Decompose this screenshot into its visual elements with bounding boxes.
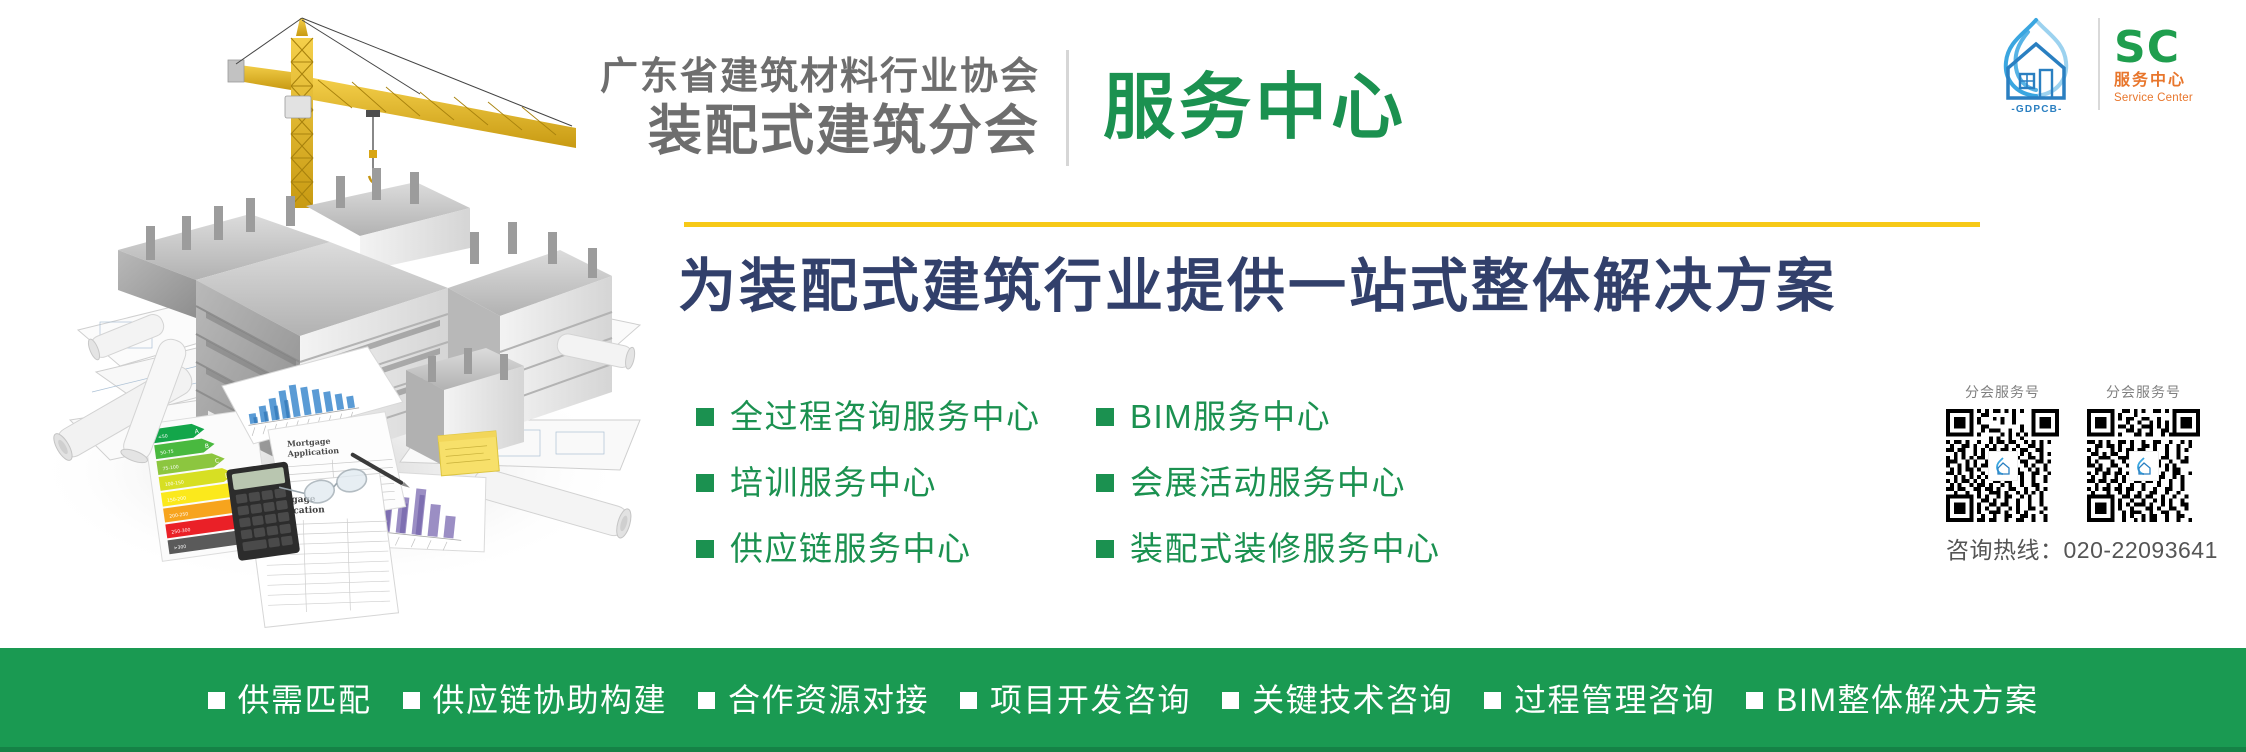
bottom-bar-item-label: BIM整体解决方案 xyxy=(1776,681,2038,719)
bottom-bar-items: 供需匹配 供应链协助构建 合作资源对接 项目开发咨询 关键技术咨询 过程管理咨询 xyxy=(208,681,2039,719)
square-bullet-icon xyxy=(696,540,714,558)
square-bullet-icon xyxy=(1096,474,1114,492)
qr-caption: 分会服务号 xyxy=(2087,382,2200,402)
square-bullet-icon xyxy=(1096,408,1114,426)
service-column-2: BIM服务中心 会展活动服务中心 装配式装修服务中心 xyxy=(1096,398,1576,568)
square-bullet-icon xyxy=(403,692,420,709)
square-bullet-icon xyxy=(696,408,714,426)
qr-code-image[interactable] xyxy=(2087,409,2200,522)
service-center-list: 全过程咨询服务中心 培训服务中心 供应链服务中心 BIM服务中心 xyxy=(696,398,1876,568)
square-bullet-icon xyxy=(696,474,714,492)
service-item-label: 装配式装修服务中心 xyxy=(1130,530,1441,568)
service-item-label: 供应链服务中心 xyxy=(730,530,972,568)
square-bullet-icon xyxy=(698,692,715,709)
sc-english-label: Service Center xyxy=(2114,91,2236,105)
gold-divider-rule xyxy=(684,222,1980,227)
square-bullet-icon xyxy=(960,692,977,709)
brand-logo-lockup: -GDPCB- SC 服务中心 Service Center xyxy=(1986,14,2236,114)
service-item-label: 全过程咨询服务中心 xyxy=(730,398,1041,436)
qr-center-logo-icon xyxy=(1988,451,2018,481)
service-center-title: 服务中心 xyxy=(1069,65,1407,151)
association-name-line1: 广东省建筑材料行业协会 xyxy=(600,54,1040,100)
qr-code-row: 分会服务号 xyxy=(1946,382,2226,522)
bottom-bar-item[interactable]: 过程管理咨询 xyxy=(1484,681,1715,719)
service-item[interactable]: 供应链服务中心 xyxy=(696,530,1096,568)
headline-slogan: 为装配式建筑行业提供一站式整体解决方案 xyxy=(678,252,1998,322)
bottom-bar-item[interactable]: 关键技术咨询 xyxy=(1222,681,1453,719)
bottom-bar-item[interactable]: 合作资源对接 xyxy=(698,681,929,719)
service-item[interactable]: 培训服务中心 xyxy=(696,464,1096,502)
bottom-bar-item-label: 关键技术咨询 xyxy=(1252,681,1453,719)
bottom-bar-item-label: 供应链协助构建 xyxy=(433,681,668,719)
service-item-label: 培训服务中心 xyxy=(730,464,937,502)
sc-logo-text: SC 服务中心 Service Center xyxy=(2114,24,2236,105)
construction-site-render: ABC DEF GH <5050-7575-100 100-150150-200… xyxy=(0,0,660,640)
qr-contact-block: 分会服务号 xyxy=(1946,382,2226,564)
qr-center-logo-icon xyxy=(2129,451,2159,481)
bottom-bar-item[interactable]: 供需匹配 xyxy=(208,681,372,719)
service-item[interactable]: 会展活动服务中心 xyxy=(1096,464,1576,502)
square-bullet-icon xyxy=(208,692,225,709)
square-bullet-icon xyxy=(1484,692,1501,709)
content-area: -GDPCB- SC 服务中心 Service Center 广东省建筑材料行业… xyxy=(660,0,2246,648)
bottom-service-bar: 供需匹配 供应链协助构建 合作资源对接 项目开发咨询 关键技术咨询 过程管理咨询 xyxy=(0,648,2246,752)
service-item[interactable]: 全过程咨询服务中心 xyxy=(696,398,1096,436)
logo-divider xyxy=(2098,18,2100,110)
gdpcb-caption: -GDPCB- xyxy=(1986,104,2088,115)
square-bullet-icon xyxy=(1096,540,1114,558)
square-bullet-icon xyxy=(1746,692,1763,709)
calculator xyxy=(226,461,300,561)
service-column-1: 全过程咨询服务中心 培训服务中心 供应链服务中心 xyxy=(696,398,1096,568)
service-item[interactable]: 装配式装修服务中心 xyxy=(1096,530,1576,568)
bottom-bar-item-label: 供需匹配 xyxy=(238,681,372,719)
service-item-label: 会展活动服务中心 xyxy=(1130,464,1406,502)
qr-code-cell[interactable]: 分会服务号 xyxy=(1946,382,2059,522)
banner-root: ABC DEF GH <5050-7575-100 100-150150-200… xyxy=(0,0,2246,752)
sc-abbrev: SC xyxy=(2114,28,2236,68)
bottom-bar-item[interactable]: 供应链协助构建 xyxy=(403,681,668,719)
hotline-text: 咨询热线：020-22093641 xyxy=(1946,536,2226,564)
service-item[interactable]: BIM服务中心 xyxy=(1096,398,1576,436)
association-name-line2: 装配式建筑分会 xyxy=(600,100,1040,162)
title-block: 广东省建筑材料行业协会 装配式建筑分会 服务中心 xyxy=(600,40,1900,175)
bottom-bar-item[interactable]: BIM整体解决方案 xyxy=(1746,681,2038,719)
gdpcb-flame-house-logo-icon: -GDPCB- xyxy=(1986,14,2088,114)
sticky-note xyxy=(438,431,499,476)
hero-illustration: ABC DEF GH <5050-7575-100 100-150150-200… xyxy=(0,0,660,640)
square-bullet-icon xyxy=(1222,692,1239,709)
service-item-label: BIM服务中心 xyxy=(1130,398,1331,436)
bottom-bar-item-label: 合作资源对接 xyxy=(728,681,929,719)
qr-code-cell[interactable]: 分会服务号 xyxy=(2087,382,2200,522)
qr-caption: 分会服务号 xyxy=(1946,382,2059,402)
sc-chinese-label: 服务中心 xyxy=(2114,71,2236,91)
bottom-bar-item[interactable]: 项目开发咨询 xyxy=(960,681,1191,719)
association-names: 广东省建筑材料行业协会 装配式建筑分会 xyxy=(600,54,1066,162)
qr-code-image[interactable] xyxy=(1946,409,2059,522)
bottom-bar-item-label: 项目开发咨询 xyxy=(990,681,1191,719)
bottom-bar-item-label: 过程管理咨询 xyxy=(1514,681,1715,719)
